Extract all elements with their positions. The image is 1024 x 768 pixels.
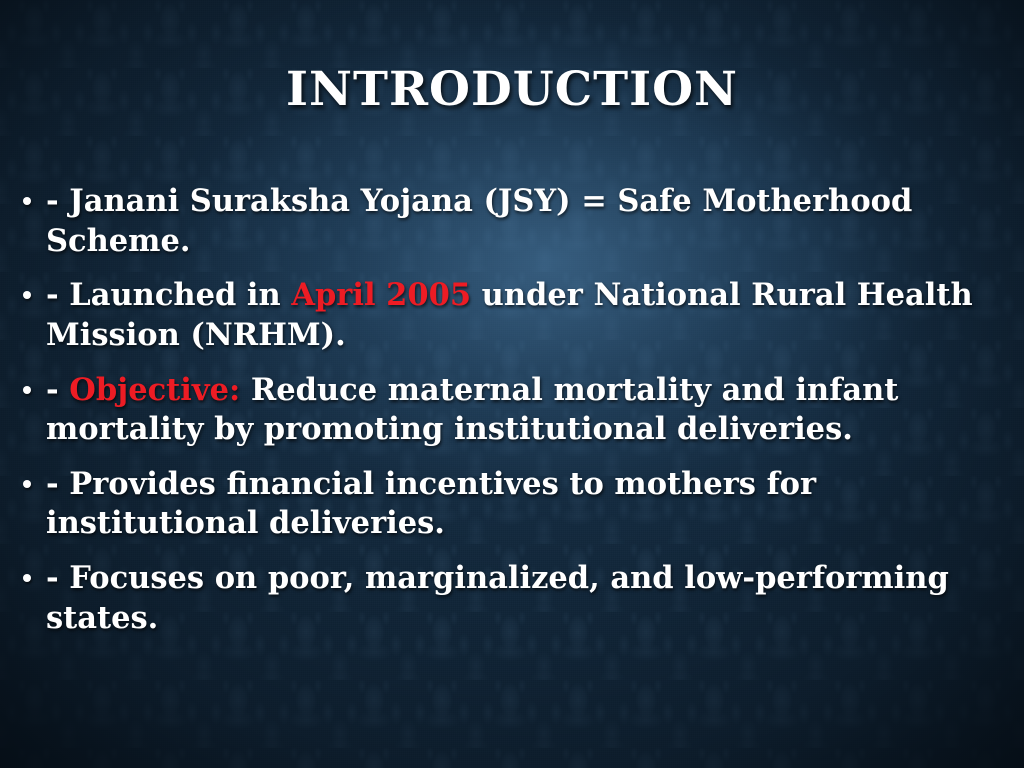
bullet-text: - Provides financial incentives to mothe… (46, 466, 816, 542)
presentation-slide: INTRODUCTION - Janani Suraksha Yojana (J… (0, 0, 1024, 768)
bullet-accent-text: April 2005 (291, 277, 471, 313)
bullet-item: - Provides financial incentives to mothe… (16, 465, 1008, 544)
round-bullet-icon (23, 386, 31, 394)
round-bullet-icon (23, 197, 31, 205)
bullet-list: - Janani Suraksha Yojana (JSY) = Safe Mo… (16, 182, 1008, 638)
round-bullet-icon (23, 291, 31, 299)
bullet-item: - Objective: Reduce maternal mortality a… (16, 371, 1008, 450)
bullet-item: - Launched in April 2005 under National … (16, 276, 1008, 355)
bullet-item: - Focuses on poor, marginalized, and low… (16, 559, 1008, 638)
slide-content: INTRODUCTION - Janani Suraksha Yojana (J… (0, 0, 1024, 768)
bullet-item: - Janani Suraksha Yojana (JSY) = Safe Mo… (16, 182, 1008, 261)
round-bullet-icon (23, 574, 31, 582)
round-bullet-icon (23, 480, 31, 488)
bullet-accent-text: Objective: (69, 372, 240, 408)
bullet-text: - Focuses on poor, marginalized, and low… (46, 560, 949, 636)
bullet-text: - Launched in (46, 277, 291, 313)
bullet-text: - (46, 372, 69, 408)
bullet-text: - Janani Suraksha Yojana (JSY) = Safe Mo… (46, 183, 912, 259)
slide-title: INTRODUCTION (0, 65, 1024, 114)
